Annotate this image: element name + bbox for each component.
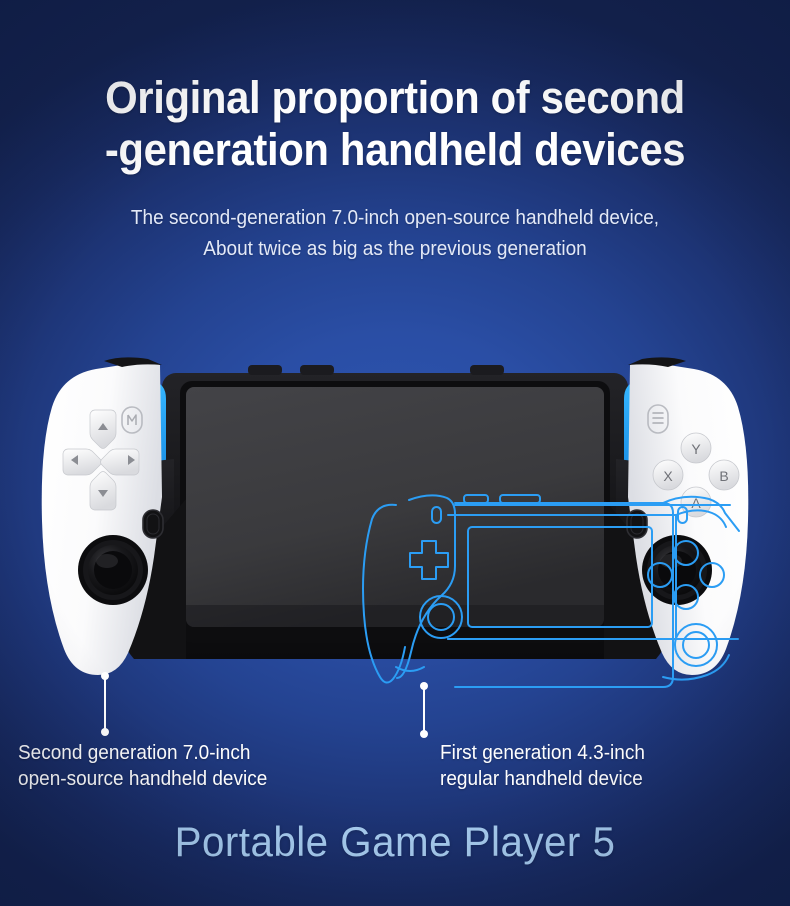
- left-controller: [42, 357, 186, 675]
- svg-text:Y: Y: [691, 441, 701, 457]
- button-y: Y: [681, 433, 711, 463]
- callout-label-first-generation: First generation 4.3-inch regular handhe…: [440, 740, 645, 792]
- callout-right-dot-bottom: [420, 730, 428, 738]
- button-x: X: [653, 460, 683, 490]
- callout-right-line: [423, 688, 425, 732]
- device-screen: [180, 381, 610, 643]
- left-oval-button: [143, 510, 163, 538]
- left-analog-stick: [78, 535, 148, 605]
- device-illustration: Y X B A: [0, 355, 790, 715]
- shoulder-button-left: [248, 365, 282, 375]
- svg-text:X: X: [663, 468, 673, 484]
- product-banner: Original proportion of second -generatio…: [0, 0, 790, 906]
- screen-surface: [186, 387, 604, 627]
- shoulder-button-right: [470, 365, 504, 375]
- shoulder-button-left-2: [300, 365, 334, 375]
- callout-label-second-generation: Second generation 7.0-inch open-source h…: [18, 740, 267, 792]
- callout-left-dot-bottom: [101, 728, 109, 736]
- callout-left-line: [104, 678, 106, 730]
- page-title: Original proportion of second -generatio…: [28, 72, 763, 176]
- button-b: B: [709, 460, 739, 490]
- page-subtitle: The second-generation 7.0-inch open-sour…: [20, 203, 771, 265]
- product-title: Portable Game Player 5: [16, 817, 774, 867]
- svg-text:B: B: [719, 468, 728, 484]
